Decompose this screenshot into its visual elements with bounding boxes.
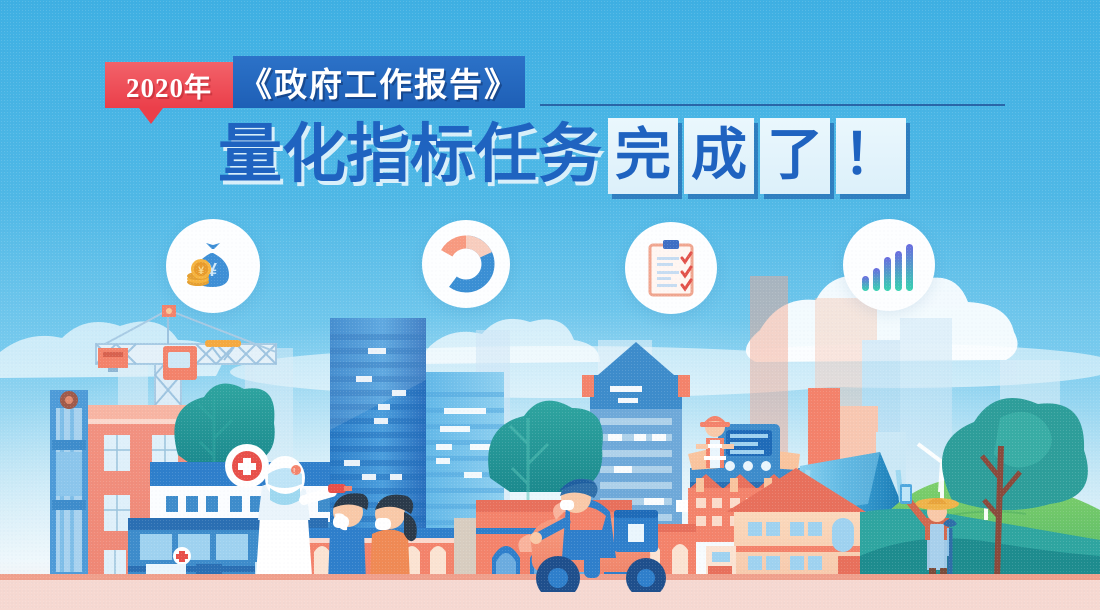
title-boxed-char-3: ！ bbox=[836, 118, 906, 194]
title-char-1: 化 bbox=[282, 118, 346, 192]
report-title-text: 《政府工作报告》 bbox=[239, 58, 519, 106]
title-char-0: 量 bbox=[218, 118, 282, 192]
boxed-char-text: 成 bbox=[691, 128, 747, 184]
header-divider bbox=[540, 104, 1005, 106]
infographic-banner: ! bbox=[0, 0, 1100, 610]
boxed-char-text: 了 bbox=[767, 128, 823, 184]
title-char-4: 任 bbox=[474, 118, 538, 192]
boxed-char-text: 完 bbox=[615, 128, 671, 184]
boxed-char-text: ！ bbox=[843, 128, 899, 184]
title-boxed-char-2: 了 bbox=[760, 118, 830, 194]
year-label: 2020年 bbox=[126, 66, 212, 105]
title-char-3: 标 bbox=[410, 118, 474, 192]
title-char-5: 务 bbox=[538, 118, 602, 192]
title-char-2: 指 bbox=[346, 118, 410, 192]
report-title-banner: 《政府工作报告》 bbox=[233, 56, 525, 108]
main-title: 量 化 指 标 任 务 完 成 了 ！ bbox=[218, 118, 906, 194]
year-badge-tail bbox=[139, 108, 163, 124]
title-boxed-char-1: 成 bbox=[684, 118, 754, 194]
title-boxed-char-0: 完 bbox=[608, 118, 678, 194]
header: 2020年 《政府工作报告》 量 化 指 标 任 务 完 成 了 ！ bbox=[0, 0, 1100, 210]
year-badge: 2020年 bbox=[105, 62, 233, 108]
